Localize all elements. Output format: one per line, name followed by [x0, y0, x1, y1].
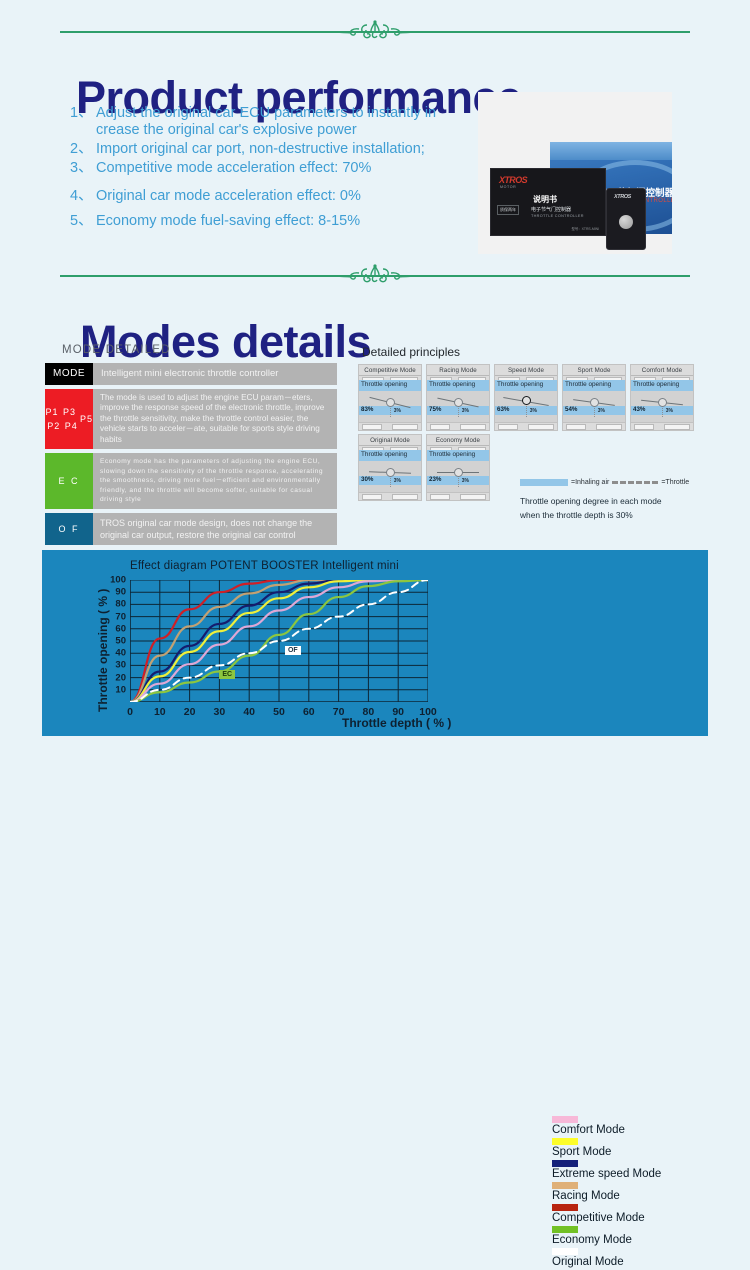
- list-item-number: 5、: [70, 213, 96, 230]
- throttle-label: =Throttle: [661, 479, 689, 486]
- detailed-principles-heading: Detailed principles: [362, 345, 460, 359]
- mode-description: TROS original car mode design, does not …: [93, 513, 337, 545]
- gauge-percent: 30%: [361, 476, 373, 483]
- chart-legend-label: Sport Mode: [552, 1146, 742, 1159]
- gauge-inhaling-band-top: Throttle opening: [631, 380, 693, 391]
- chart-legend-label: Original Mode: [552, 1256, 742, 1269]
- list-item: 5、 Economy mode fuel-saving effect: 8-15…: [70, 213, 470, 230]
- gauge-depth-value: 3%: [394, 478, 401, 484]
- chart-legend-swatch: [552, 1160, 578, 1167]
- chart-x-tick: 60: [303, 706, 315, 718]
- gauge-opening-label: Throttle opening: [361, 451, 407, 458]
- table-row: O F TROS original car mode design, does …: [45, 513, 337, 545]
- mode-detail-table: MODE Intelligent mini electronic throttl…: [45, 363, 337, 549]
- chart-y-tick: 10: [115, 684, 126, 695]
- chart-legend-label: Racing Mode: [552, 1190, 742, 1203]
- product-infographic-page: Product performance 1、 Adjust the origin…: [0, 0, 750, 750]
- chart-y-tick: 20: [115, 672, 126, 683]
- principles-legend-key: =Inhaling air =Throttle: [520, 479, 715, 486]
- gauge-pivot-icon: [522, 396, 531, 405]
- chart-y-tick: 50: [115, 636, 126, 647]
- gauge-bottom-tabs: [563, 422, 625, 430]
- gauge-body: Throttle opening 75% 3%: [427, 380, 489, 422]
- chart-y-tick: 70: [115, 611, 126, 622]
- gauge-inhaling-band-top: Throttle opening: [495, 380, 557, 391]
- chart-x-tick: 0: [127, 706, 133, 718]
- chart-x-tick: 100: [419, 706, 437, 718]
- chart-y-tick: 90: [115, 587, 126, 598]
- list-item-text: Original car mode acceleration effect: 0…: [96, 188, 470, 205]
- chart-legend: Comfort ModeSport ModeExtreme speed Mode…: [552, 1116, 742, 1270]
- list-item: 3、 Competitive mode acceleration effect:…: [70, 160, 470, 177]
- chart-x-tick: 90: [392, 706, 404, 718]
- gauge-percent: 54%: [565, 406, 577, 413]
- gauge-racing-mode: Racing Mode Throttle opening 75% 3%: [426, 364, 490, 431]
- chart-x-tick: 80: [363, 706, 375, 718]
- gauge-pivot-icon: [590, 398, 599, 407]
- chart-legend-item: Competitive Mode: [552, 1204, 742, 1225]
- gauge-title: Competitive Mode: [359, 365, 421, 376]
- gauge-inhaling-band-top: Throttle opening: [359, 380, 421, 391]
- manual-brand-sub: MOTOR: [500, 185, 516, 189]
- gauge-body: Throttle opening 63% 3%: [495, 380, 557, 422]
- chart-legend-item: Sport Mode: [552, 1138, 742, 1159]
- device-brand-logo: XTROS: [614, 194, 631, 200]
- gauge-depth-value: 3%: [462, 478, 469, 484]
- gauge-bottom-tabs: [495, 422, 557, 430]
- chart-legend-swatch: [552, 1116, 578, 1123]
- inhaling-air-swatch: [520, 479, 568, 486]
- list-item-text: Economy mode fuel-saving effect: 8-15%: [96, 213, 470, 230]
- chart-legend-item: Extreme speed Mode: [552, 1160, 742, 1181]
- gauge-pivot-icon: [386, 468, 395, 477]
- gauge-percent: 43%: [633, 406, 645, 413]
- manual-model-text: 型号：XTRS-MINI: [571, 226, 599, 231]
- inhaling-air-label: =Inhaling air: [571, 479, 609, 486]
- gauge-body: Throttle opening 30% 3%: [359, 450, 421, 492]
- list-item-text: Import original car port, non-destructiv…: [96, 141, 470, 158]
- page-title-modes-details: Modes details: [80, 316, 371, 368]
- device-button-icon: [619, 215, 633, 229]
- product-performance-list: 1、 Adjust the original car ECU parameter…: [70, 105, 470, 232]
- gauge-percent: 63%: [497, 406, 509, 413]
- gauge-bottom-tabs: [631, 422, 693, 430]
- chart-legend-label: Extreme speed Mode: [552, 1168, 742, 1181]
- chart-legend-item: Racing Mode: [552, 1182, 742, 1203]
- gauge-title: Sport Mode: [563, 365, 625, 376]
- chart-y-tick: 100: [110, 575, 126, 586]
- mode-detailed-heading: MODE DETAILED: [62, 344, 171, 356]
- gauge-title: Speed Mode: [495, 365, 557, 376]
- legend-key-row: =Inhaling air =Throttle: [520, 479, 715, 486]
- chart-legend-swatch: [552, 1182, 578, 1189]
- gauge-opening-label: Throttle opening: [497, 381, 543, 388]
- gauge-opening-label: Throttle opening: [633, 381, 679, 388]
- gauge-sport-mode: Sport Mode Throttle opening 54% 3%: [562, 364, 626, 431]
- gauge-opening-label: Throttle opening: [429, 451, 475, 458]
- chart-legend-item: Economy Mode: [552, 1226, 742, 1247]
- manual-brand-logo: XTROS: [499, 175, 527, 185]
- chart-plot-area: 102030405060708090100 010203040506070809…: [130, 580, 428, 702]
- product-device-unit: XTROS: [606, 188, 646, 250]
- chart-x-tick: 30: [214, 706, 226, 718]
- manual-chinese-title: 说明书: [533, 194, 557, 205]
- chart-legend-item: Original Mode: [552, 1248, 742, 1269]
- gauge-body: Throttle opening 54% 3%: [563, 380, 625, 422]
- chart-legend-swatch: [552, 1204, 578, 1211]
- chart-legend-label: Economy Mode: [552, 1234, 742, 1247]
- chart-x-tick: 40: [243, 706, 255, 718]
- table-row: E C Economy mode has the parameters of a…: [45, 453, 337, 509]
- gauge-bottom-tabs: [427, 422, 489, 430]
- chart-y-tick: 40: [115, 648, 126, 659]
- gauge-economy-mode: Economy Mode Throttle opening 23% 3%: [426, 434, 490, 501]
- chart-title: Effect diagram POTENT BOOSTER Intelligen…: [130, 560, 399, 572]
- gauge-comfort-mode: Comfort Mode Throttle opening 43% 3%: [630, 364, 694, 431]
- manual-english-title: THROTTLE CONTROLLER: [531, 214, 584, 218]
- manual-chinese-subtitle: 电子节气门控制器: [531, 206, 571, 213]
- list-item-number: 4、: [70, 188, 96, 205]
- ornament-divider-middle: [60, 264, 690, 286]
- chart-x-tick: 50: [273, 706, 285, 718]
- list-item: 2、 Import original car port, non-destruc…: [70, 141, 470, 158]
- principles-note: Throttle opening degree in each mode whe…: [520, 494, 720, 522]
- mode-description: Intelligent mini electronic throttle con…: [93, 363, 337, 385]
- chart-x-tick: 70: [333, 706, 345, 718]
- principles-note-line2: when the throttle depth is 30%: [520, 508, 720, 522]
- chart-svg: [130, 580, 428, 702]
- mode-description: Economy mode has the parameters of adjus…: [93, 453, 337, 509]
- gauge-percent: 75%: [429, 406, 441, 413]
- mode-key-label: MODE: [45, 363, 93, 385]
- gauge-inhaling-band-top: Throttle opening: [563, 380, 625, 391]
- list-item: 4、 Original car mode acceleration effect…: [70, 188, 470, 205]
- box-top-strip: [550, 142, 672, 160]
- chart-y-tick: 30: [115, 660, 126, 671]
- chart-y-axis-label: Throttle opening ( % ): [94, 580, 112, 720]
- gauge-row-2: Original Mode Throttle opening 30% 3% Ec…: [358, 434, 704, 501]
- gauge-inhaling-band-top: Throttle opening: [427, 450, 489, 461]
- flourish-ornament-icon: [329, 264, 421, 286]
- gauge-percent: 83%: [361, 406, 373, 413]
- principles-note-line1: Throttle opening degree in each mode: [520, 494, 720, 508]
- gauge-title: Economy Mode: [427, 435, 489, 446]
- gauge-bottom-tabs: [427, 492, 489, 500]
- mode-key-label: P1 P2P3 P4P5: [45, 389, 93, 449]
- list-item-text: Adjust the original car ECU parameters t…: [96, 105, 470, 139]
- chart-y-tick: 80: [115, 599, 126, 610]
- ornament-divider-top: [60, 20, 690, 42]
- product-manual: XTROS MOTOR 质保两年 说明书 电子节气门控制器 THROTTLE C…: [490, 168, 606, 236]
- mode-description: The mode is used to adjust the engine EC…: [93, 389, 337, 449]
- gauge-pivot-icon: [658, 398, 667, 407]
- gauge-depth-value: 3%: [598, 408, 605, 414]
- mode-key-label: O F: [45, 513, 93, 545]
- chart-annotation-ec: EC: [219, 670, 235, 679]
- chart-legend-label: Competitive Mode: [552, 1212, 742, 1225]
- chart-x-tick: 10: [154, 706, 166, 718]
- gauge-opening-label: Throttle opening: [361, 381, 407, 388]
- flourish-ornament-icon: [329, 20, 421, 42]
- gauge-row-1: Competitive Mode Throttle opening 83% 3%…: [358, 364, 704, 431]
- table-row: P1 P2P3 P4P5 The mode is used to adjust …: [45, 389, 337, 449]
- gauge-inhaling-band-top: Throttle opening: [359, 450, 421, 461]
- chart-legend-item: Comfort Mode: [552, 1116, 742, 1137]
- chart-legend-swatch: [552, 1138, 578, 1145]
- chart-legend-swatch: [552, 1226, 578, 1233]
- chart-x-axis-label: Throttle depth ( % ): [342, 716, 451, 730]
- product-photo: XTROS 礼包 电子节气门控制器 THROTTLE CONTROLLER XT…: [478, 92, 672, 254]
- gauge-depth-value: 3%: [666, 408, 673, 414]
- effect-diagram-chart: Effect diagram POTENT BOOSTER Intelligen…: [42, 550, 708, 736]
- gauge-title: Racing Mode: [427, 365, 489, 376]
- list-item: 1、 Adjust the original car ECU parameter…: [70, 105, 470, 139]
- gauge-percent: 23%: [429, 476, 441, 483]
- list-item-number: 3、: [70, 160, 96, 177]
- gauge-title: Comfort Mode: [631, 365, 693, 376]
- manual-warranty-badge: 质保两年: [497, 205, 519, 215]
- gauge-depth-value: 3%: [394, 408, 401, 414]
- list-item-number: 1、: [70, 105, 96, 139]
- gauge-inhaling-band-top: Throttle opening: [427, 380, 489, 391]
- chart-legend-label: Comfort Mode: [552, 1124, 742, 1137]
- chart-x-tick: 20: [184, 706, 196, 718]
- gauge-depth-value: 3%: [462, 408, 469, 414]
- table-row: MODE Intelligent mini electronic throttl…: [45, 363, 337, 385]
- throttle-dash-swatch: [612, 481, 658, 484]
- gauge-pivot-icon: [454, 468, 463, 477]
- chart-annotation-of: OF: [285, 646, 301, 655]
- gauge-competitive-mode: Competitive Mode Throttle opening 83% 3%: [358, 364, 422, 431]
- gauge-opening-label: Throttle opening: [565, 381, 611, 388]
- gauge-bottom-tabs: [359, 492, 421, 500]
- gauge-body: Throttle opening 43% 3%: [631, 380, 693, 422]
- list-item-text: Competitive mode acceleration effect: 70…: [96, 160, 470, 177]
- list-item-number: 2、: [70, 141, 96, 158]
- gauge-original-mode: Original Mode Throttle opening 30% 3%: [358, 434, 422, 501]
- gauge-pivot-icon: [454, 398, 463, 407]
- chart-legend-swatch: [552, 1248, 578, 1255]
- mode-key-label: E C: [45, 453, 93, 509]
- gauge-pivot-icon: [386, 398, 395, 407]
- gauge-depth-value: 3%: [530, 408, 537, 414]
- gauge-speed-mode: Speed Mode Throttle opening 63% 3%: [494, 364, 558, 431]
- gauge-title: Original Mode: [359, 435, 421, 446]
- gauge-bottom-tabs: [359, 422, 421, 430]
- gauge-body: Throttle opening 23% 3%: [427, 450, 489, 492]
- gauge-opening-label: Throttle opening: [429, 381, 475, 388]
- chart-y-tick: 60: [115, 623, 126, 634]
- gauge-body: Throttle opening 83% 3%: [359, 380, 421, 422]
